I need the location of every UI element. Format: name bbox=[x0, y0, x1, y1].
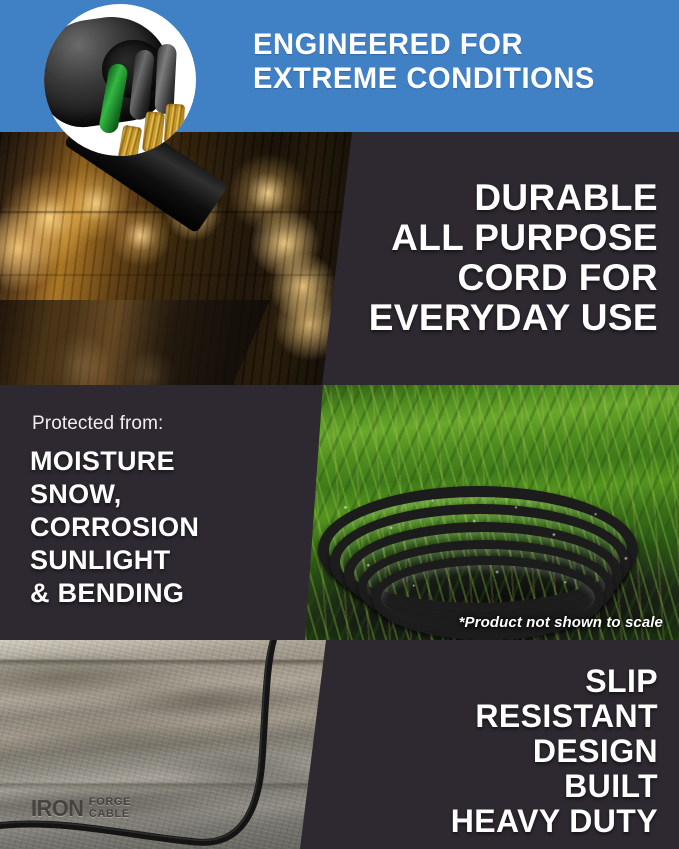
durable-headline: DURABLE ALL PURPOSE CORD FOR EVERYDAY US… bbox=[198, 178, 658, 338]
protected-from-list: MOISTURE SNOW, CORROSION SUNLIGHT & BEND… bbox=[30, 445, 310, 610]
header-title: ENGINEERED FOR EXTREME CONDITIONS bbox=[253, 28, 653, 96]
iron-forge-cable-logo: IRON FORGE CABLE bbox=[31, 797, 131, 820]
logo-secondary-stack: FORGE CABLE bbox=[89, 797, 131, 820]
product-infographic: ENGINEERED FOR EXTREME CONDITIONS DURABL… bbox=[0, 0, 679, 849]
scale-disclaimer: *Product not shown to scale bbox=[459, 614, 663, 631]
copper-conductor-graphic bbox=[164, 104, 185, 145]
copper-conductor-graphic bbox=[117, 125, 143, 156]
logo-cable-text: CABLE bbox=[89, 809, 131, 821]
logo-forge-text: FORGE bbox=[89, 797, 131, 809]
cable-cross-section-icon bbox=[44, 4, 196, 156]
protected-from-label: Protected from: bbox=[32, 412, 163, 435]
logo-primary-text: IRON bbox=[31, 797, 84, 820]
slip-resistant-headline: SLIP RESISTANT DESIGN BUILT HEAVY DUTY bbox=[238, 664, 658, 839]
